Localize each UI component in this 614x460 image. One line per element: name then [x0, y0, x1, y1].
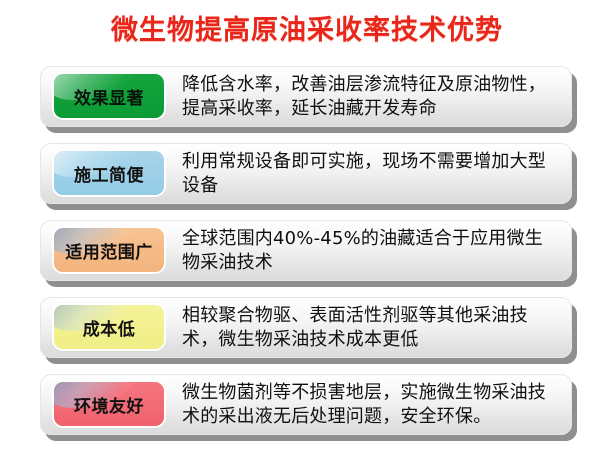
list-item[interactable]: 施工简便 利用常规设备即可实施，现场不需要增加大型设备	[40, 143, 572, 204]
badge-label-2[interactable]: 施工简便	[54, 151, 164, 195]
badge-label-3[interactable]: 适用范围广	[54, 228, 164, 272]
row-description: 利用常规设备即可实施，现场不需要增加大型设备	[182, 150, 558, 198]
row-description: 全球范围内40%-45%的油藏适合于应用微生物采油技术	[182, 227, 558, 275]
list-item[interactable]: 适用范围广 全球范围内40%-45%的油藏适合于应用微生物采油技术	[40, 220, 572, 281]
badge-text: 环境友好	[74, 392, 144, 417]
list-item[interactable]: 成本低 相较聚合物驱、表面活性剂驱等其他采油技术，微生物采油技术成本更低	[40, 297, 572, 358]
row-description: 微生物菌剂等不损害地层，实施微生物采油技术的采出液无后处理问题，安全环保。	[182, 381, 558, 429]
badge-label-4[interactable]: 成本低	[54, 305, 164, 349]
list-item[interactable]: 效果显著 降低含水率，改善油层渗流特征及原油物性，提高采收率，延长油藏开发寿命	[40, 66, 572, 127]
advantage-list: 效果显著 降低含水率，改善油层渗流特征及原油物性，提高采收率，延长油藏开发寿命 …	[40, 66, 580, 451]
badge-text: 适用范围广	[65, 238, 153, 263]
badge-text: 效果显著	[74, 84, 144, 109]
badge-text: 成本低	[83, 315, 136, 340]
badge-text: 施工简便	[74, 161, 144, 186]
row-description: 相较聚合物驱、表面活性剂驱等其他采油技术，微生物采油技术成本更低	[182, 304, 558, 352]
badge-label-1[interactable]: 效果显著	[54, 74, 164, 118]
list-item[interactable]: 环境友好 微生物菌剂等不损害地层，实施微生物采油技术的采出液无后处理问题，安全环…	[40, 374, 572, 435]
slide-canvas: 微生物提高原油采收率技术优势 效果显著 降低含水率，改善油层渗流特征及原油物性，…	[0, 0, 614, 460]
row-description: 降低含水率，改善油层渗流特征及原油物性，提高采收率，延长油藏开发寿命	[182, 73, 558, 121]
badge-label-5[interactable]: 环境友好	[54, 382, 164, 426]
page-title: 微生物提高原油采收率技术优势	[0, 14, 614, 48]
